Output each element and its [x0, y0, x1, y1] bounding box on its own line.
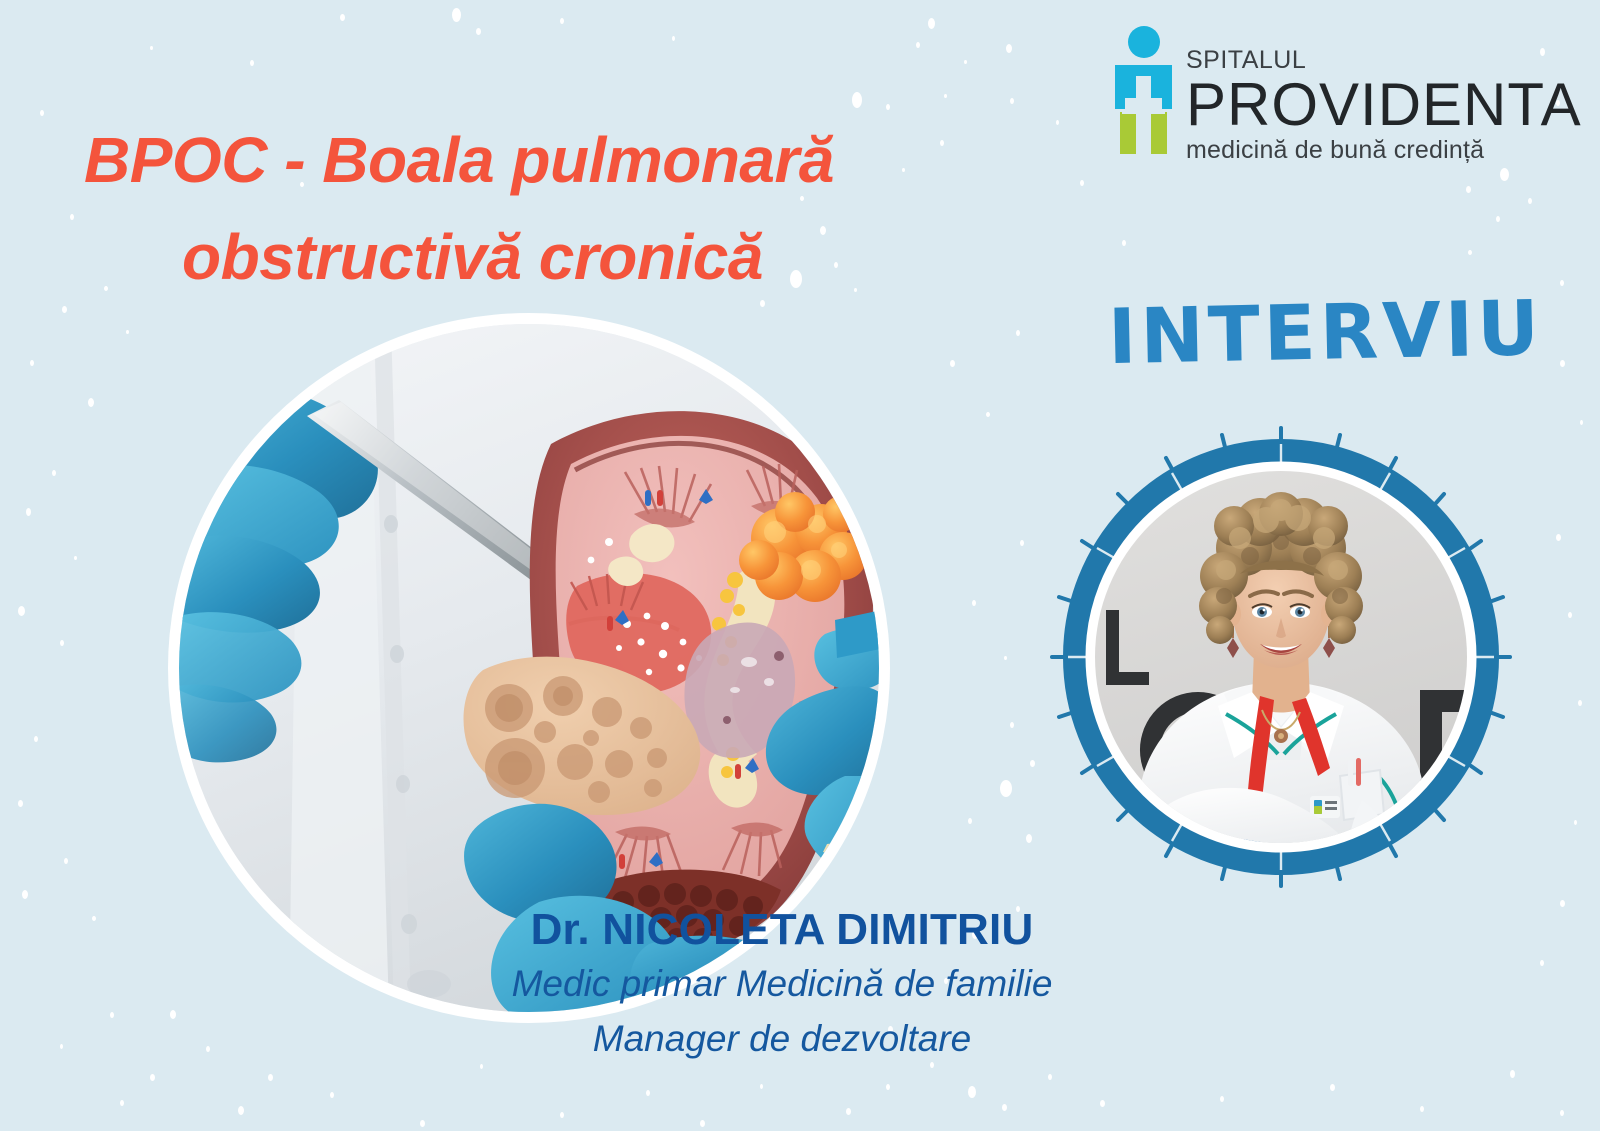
interviu-label: INTERVIU: [1107, 284, 1509, 381]
poster-canvas: BPOC - Boala pulmonară obstructivă croni…: [0, 0, 1600, 1131]
logo-spitalul: SPITALUL: [1186, 48, 1582, 73]
title-line-1: BPOC - Boala pulmonară: [78, 112, 958, 209]
doctor-credential-2: Manager de dezvoltare: [0, 1018, 1600, 1060]
doctor-credential-1: Medic primar Medicină de familie: [0, 963, 1600, 1005]
doctor-portrait-frame: [1048, 424, 1514, 890]
logo-wordmark: SPITALUL PROVIDENTA medicină de bună cre…: [1186, 26, 1582, 163]
hospital-logo: SPITALUL PROVIDENTA medicină de bună cre…: [1112, 26, 1582, 163]
title-line-2: obstructivă cronică: [78, 209, 958, 306]
doctor-name: Dr. NICOLETA DIMITRIU: [0, 905, 1600, 955]
page-title: BPOC - Boala pulmonară obstructivă croni…: [78, 112, 958, 307]
logo-name: PROVIDENTA: [1186, 74, 1582, 135]
person-cross-icon: [1112, 26, 1174, 154]
logo-tagline: medicină de bună credință: [1186, 138, 1582, 163]
